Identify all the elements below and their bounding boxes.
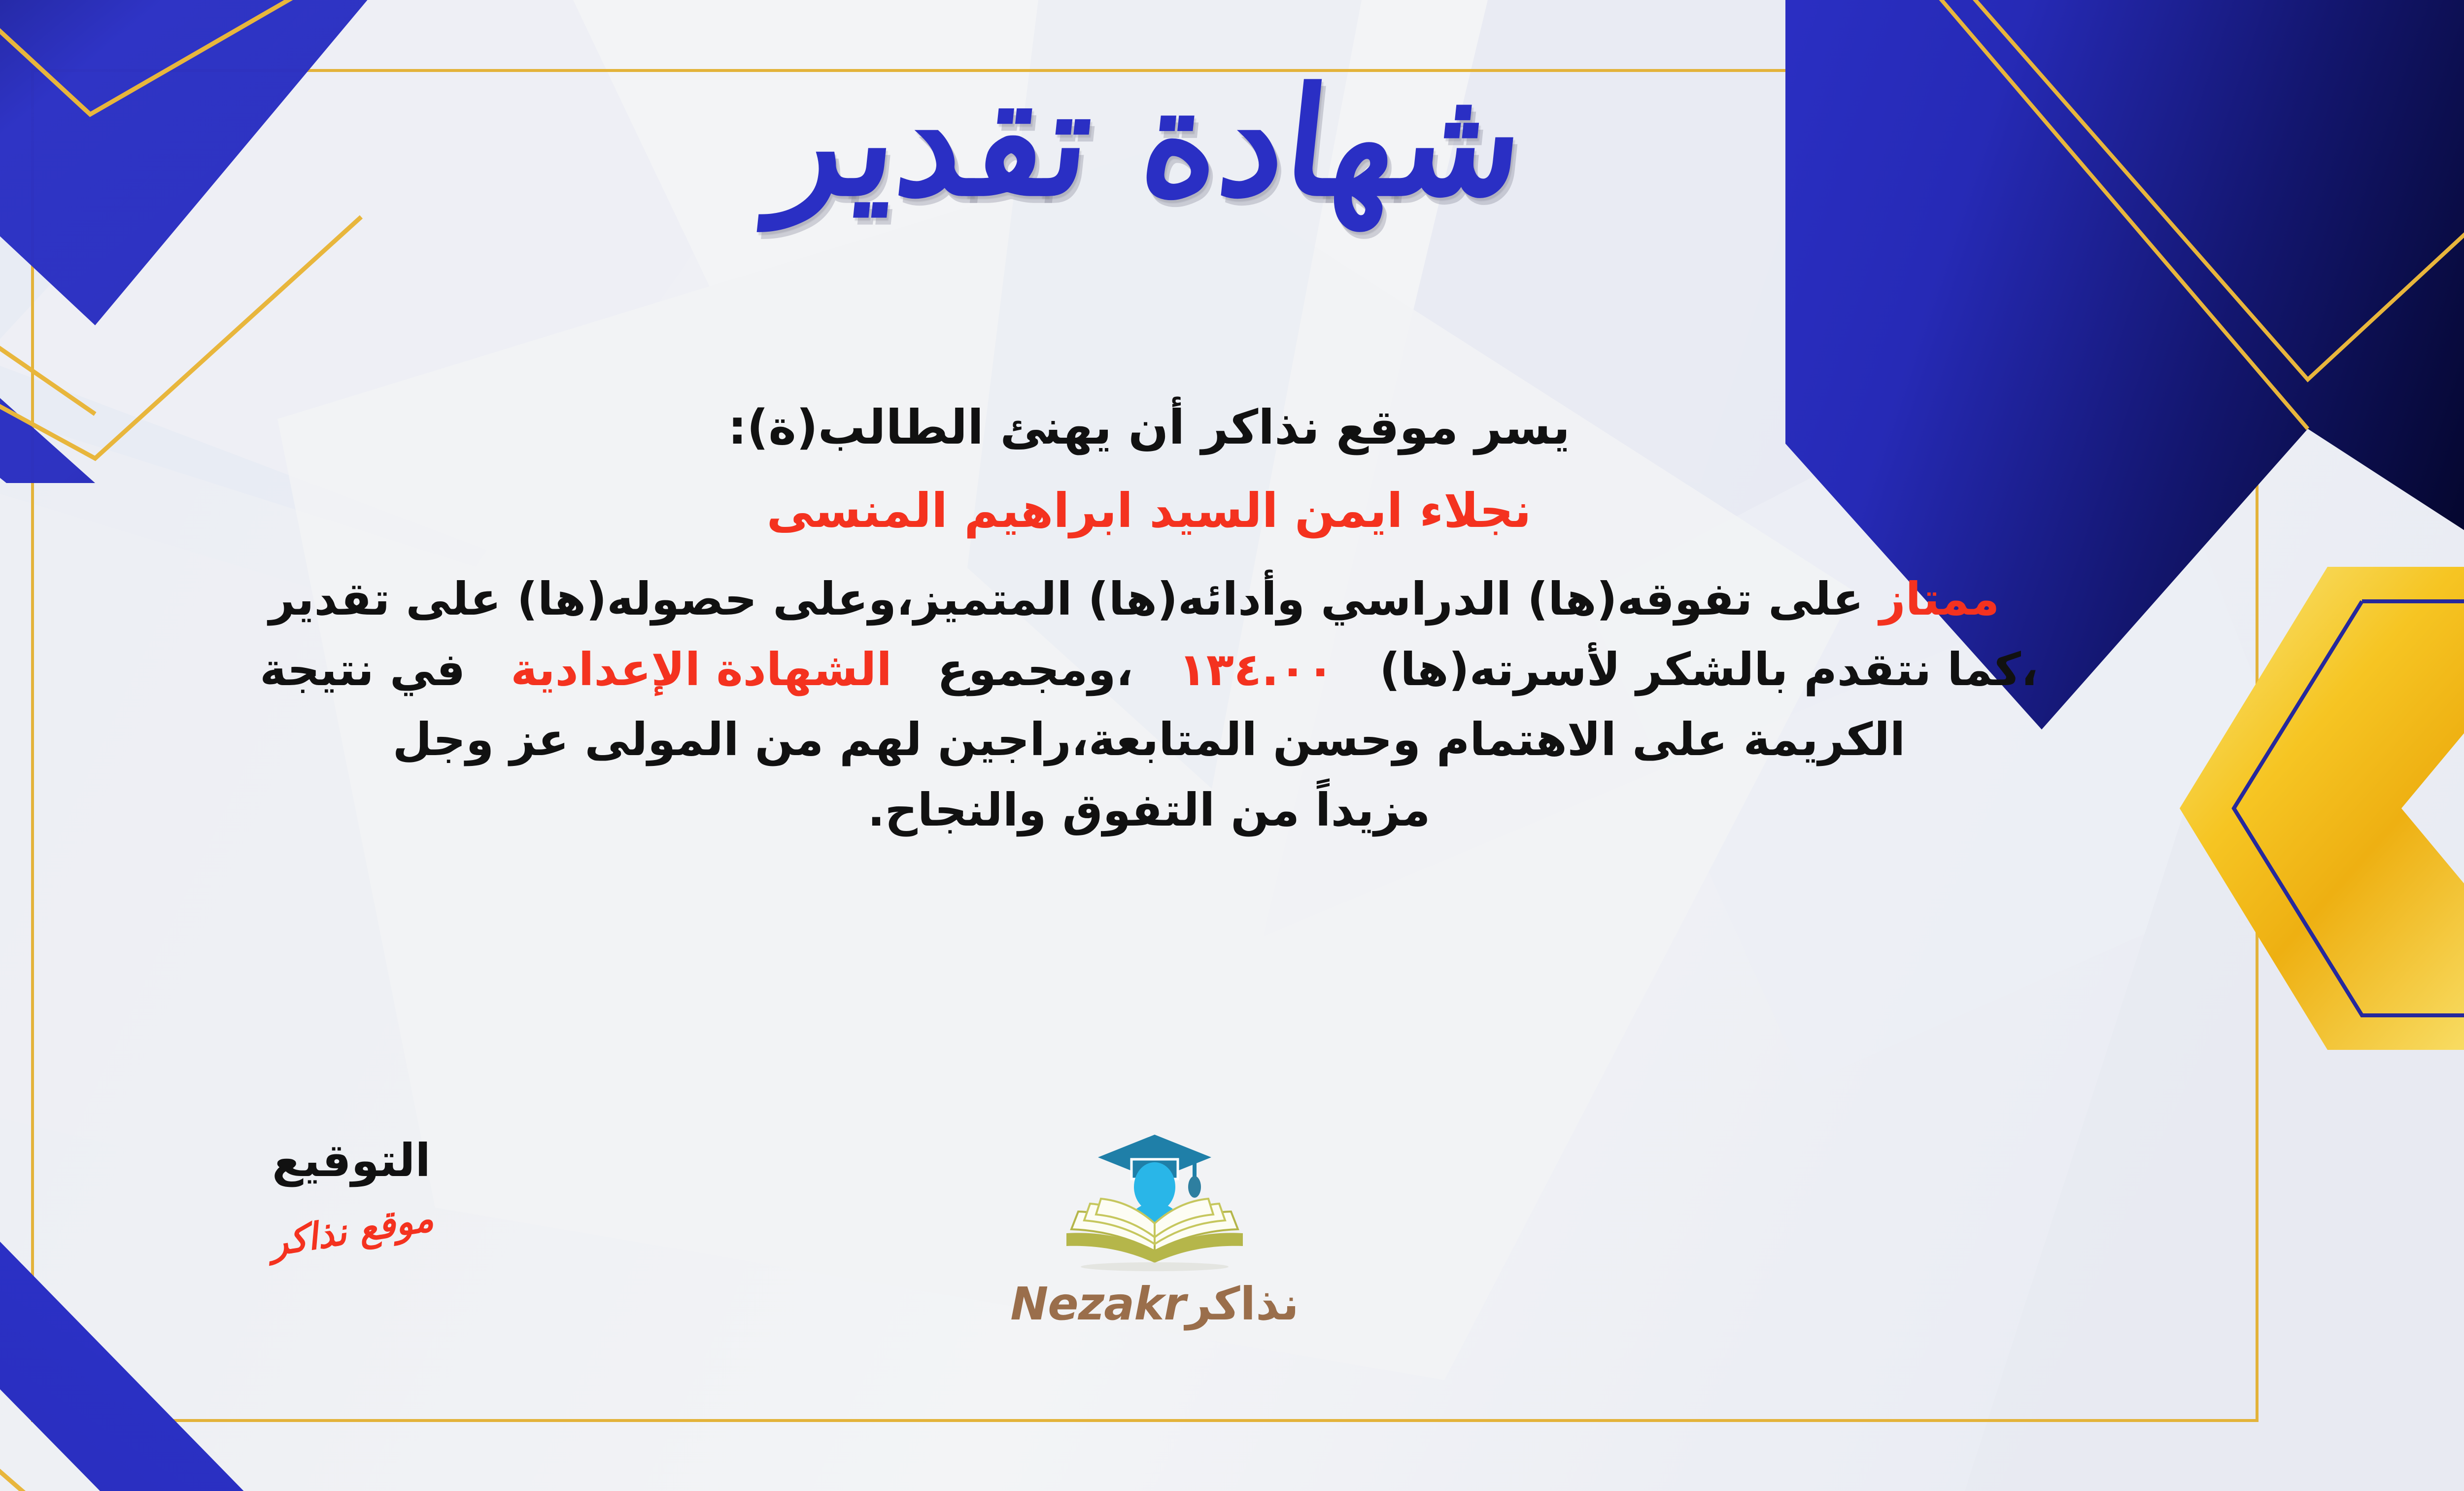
line2-suffix: ،كما نتقدم بالشكر لأسرته(ها) <box>1379 643 2038 696</box>
certificate-body: يسر موقع نذاكر أن يهنئ الطالب(ة): نجلاء … <box>46 394 2252 846</box>
student-name: نجلاء ايمن السيد ابراهيم المنسى <box>46 480 2252 542</box>
site-logo: نذاكرNezakr <box>958 1129 1352 1330</box>
line2-middle: ،ومجموع <box>937 643 1133 696</box>
logo-wordmark: نذاكرNezakr <box>958 1278 1352 1330</box>
achievement-line-4: مزيداً من التفوق والنجاح. <box>46 775 2252 846</box>
signature-block: التوقيع موقع نذاكر <box>199 1134 504 1252</box>
graduate-book-logo-icon <box>1049 1129 1261 1277</box>
certificate-title: شهادة تقدير <box>767 64 1531 219</box>
achievement-line-1: ممتاز على تفوقه(ها) الدراسي وأدائه(ها) ا… <box>46 564 2252 635</box>
line2-prefix: في نتيجة <box>260 643 465 696</box>
achievement-line-1-text: على تفوقه(ها) الدراسي وأدائه(ها) المتميز… <box>269 573 1864 625</box>
achievement-paragraph: ممتاز على تفوقه(ها) الدراسي وأدائه(ها) ا… <box>46 564 2252 845</box>
logo-latin: Nezakr <box>1010 1278 1186 1330</box>
certificate-page: شهادة تقدير يسر موقع نذاكر أن يهنئ الطال… <box>0 0 2464 1491</box>
total-score-value: ١٣٤.٠٠ <box>1179 643 1335 696</box>
exam-name-value: الشهادة الإعدادية <box>511 643 892 696</box>
intro-line: يسر موقع نذاكر أن يهنئ الطالب(ة): <box>46 394 2252 460</box>
signature-label: التوقيع <box>199 1134 504 1188</box>
logo-arabic: نذاكر <box>1186 1278 1299 1330</box>
grade-value: ممتاز <box>1880 573 2000 625</box>
achievement-line-2: ،كما نتقدم بالشكر لأسرته(ها) ١٣٤.٠٠ ،ومج… <box>46 635 2252 705</box>
achievement-line-3: الكريمة على الاهتمام وحسن المتابعة،راجين… <box>46 705 2252 775</box>
title-area: شهادة تقدير <box>0 64 2464 261</box>
